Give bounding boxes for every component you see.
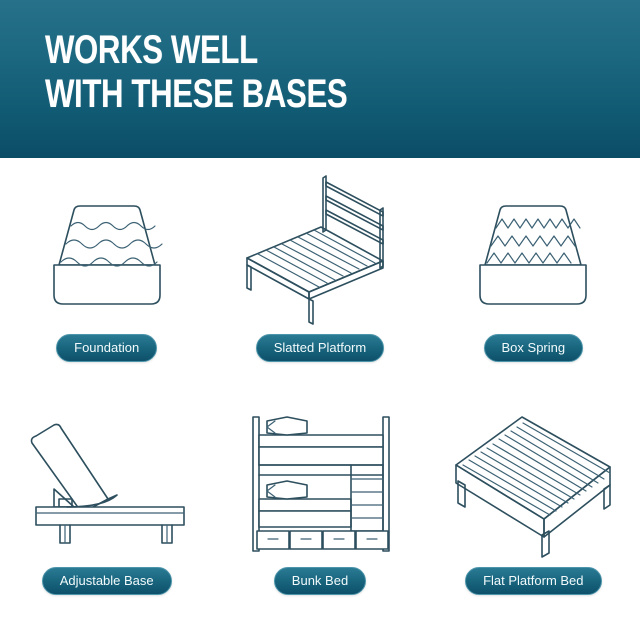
base-label-flat-platform-bed: Flat Platform Bed xyxy=(465,567,601,595)
slatted-platform-bed-icon xyxy=(225,170,415,330)
base-label-bunk-bed: Bunk Bed xyxy=(274,567,366,595)
base-label-box-spring: Box Spring xyxy=(484,334,584,362)
works-well-with-these-bases-infographic: WORKS WELL WITH THESE BASES Foundation xyxy=(0,0,640,640)
header-banner: WORKS WELL WITH THESE BASES xyxy=(0,0,640,158)
base-card-foundation[interactable]: Foundation xyxy=(0,158,213,399)
flat-platform-bed-icon xyxy=(438,403,628,563)
foundation-mattress-icon xyxy=(12,170,202,330)
adjustable-base-icon xyxy=(12,403,202,563)
bases-grid: Foundation xyxy=(0,158,640,640)
bunk-bed-icon xyxy=(225,403,415,563)
page-title: WORKS WELL WITH THESE BASES xyxy=(45,28,347,116)
base-label-slatted-platform: Slatted Platform xyxy=(256,334,385,362)
base-card-adjustable-base[interactable]: Adjustable Base xyxy=(0,399,213,640)
bunk-bed-card[interactable]: Bunk Bed xyxy=(213,399,426,640)
base-label-adjustable-base: Adjustable Base xyxy=(42,567,172,595)
box-spring-icon xyxy=(438,170,628,330)
base-card-flat-platform-bed[interactable]: Flat Platform Bed xyxy=(427,399,640,640)
base-label-foundation: Foundation xyxy=(56,334,157,362)
base-card-box-spring[interactable]: Box Spring xyxy=(427,158,640,399)
base-card-slatted-platform[interactable]: Slatted Platform xyxy=(213,158,426,399)
